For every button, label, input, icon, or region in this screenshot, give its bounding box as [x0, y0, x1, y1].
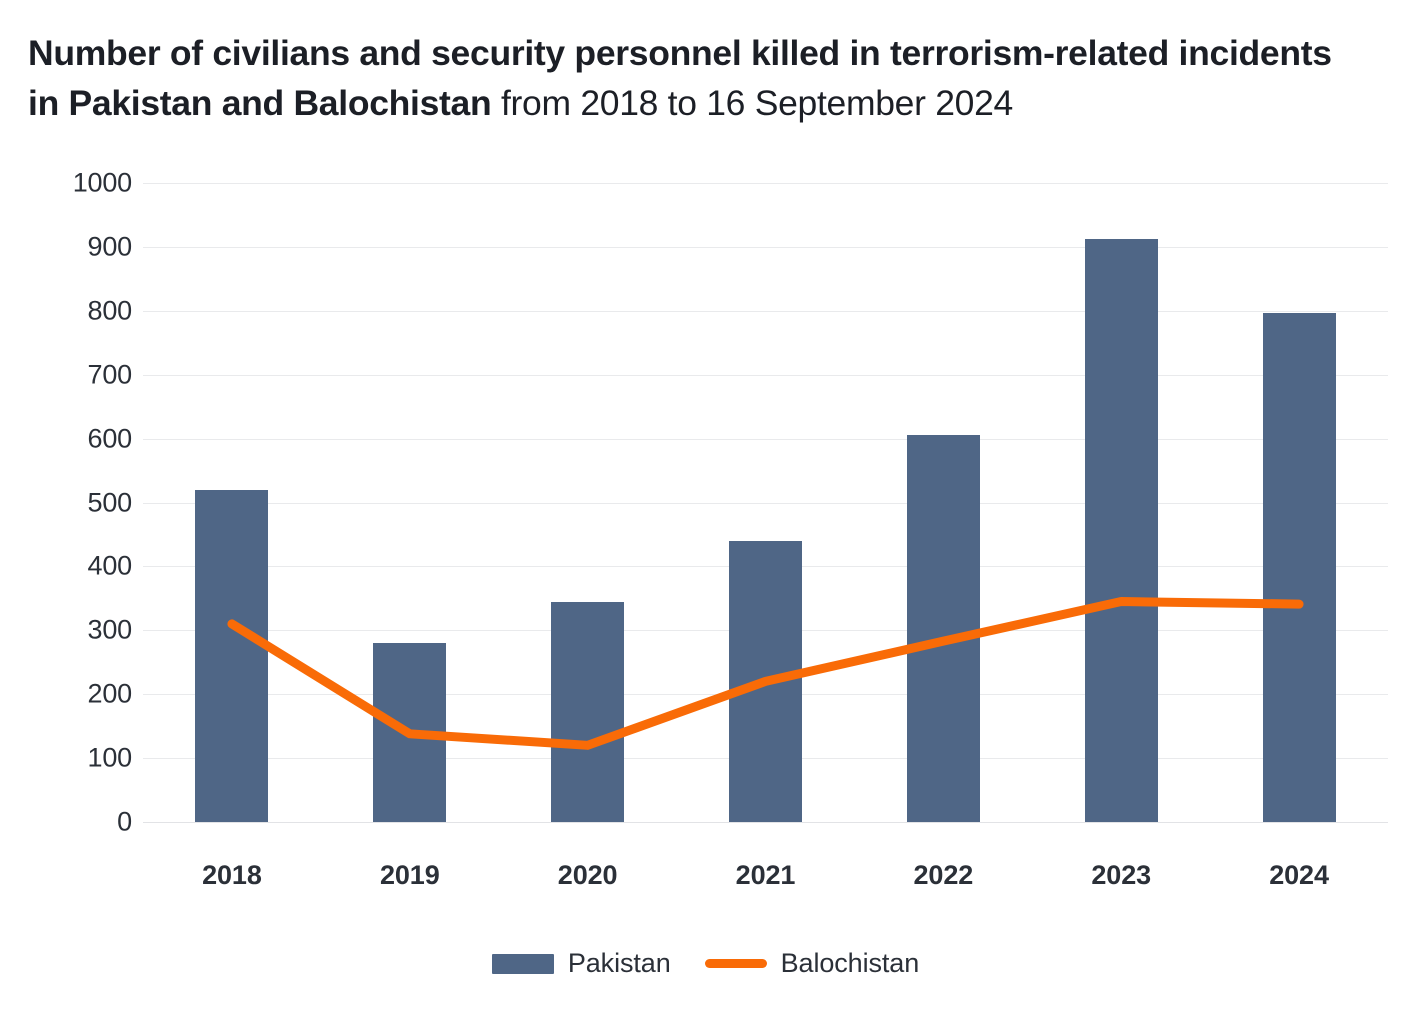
line-path-balochistan[interactable] — [232, 602, 1299, 746]
line-swatch-icon — [705, 959, 767, 968]
legend-item-pakistan[interactable]: Pakistan — [492, 948, 671, 979]
x-tick-label-2021: 2021 — [736, 860, 796, 891]
legend-label-pakistan: Pakistan — [568, 948, 671, 979]
legend-item-balochistan[interactable]: Balochistan — [705, 948, 920, 979]
x-tick-label-2024: 2024 — [1269, 860, 1329, 891]
chart-legend: Pakistan Balochistan — [0, 948, 1411, 979]
x-tick-label-2019: 2019 — [380, 860, 440, 891]
x-tick-label-2022: 2022 — [914, 860, 974, 891]
x-tick-label-2020: 2020 — [558, 860, 618, 891]
x-tick-label-2018: 2018 — [202, 860, 262, 891]
chart-container: Number of civilians and security personn… — [0, 0, 1411, 1015]
bar-swatch-icon — [492, 954, 554, 974]
legend-label-balochistan: Balochistan — [781, 948, 920, 979]
x-tick-label-2023: 2023 — [1091, 860, 1151, 891]
plot-area: 01002003004005006007008009001000 2018201… — [0, 0, 1411, 1015]
